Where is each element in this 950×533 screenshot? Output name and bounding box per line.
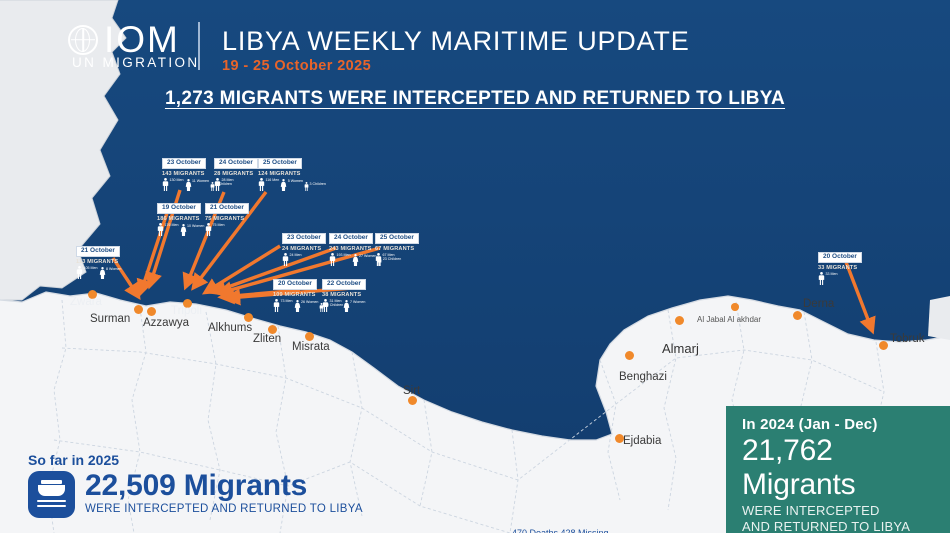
incident-label: 25 October67 MIGRANTS67 Men [375,226,419,266]
incident-breakdown: 105 Men8 Women [76,266,121,279]
person-woman-icon [185,179,192,191]
breakdown-label: 10 Women [187,224,204,228]
page-title: LIBYA WEEKLY MARITIME UPDATE [222,26,690,57]
incident-date: 20 October [273,279,317,291]
person-man-icon [205,223,212,236]
globe-icon [68,25,98,55]
headline-banner: 1,273 MIGRANTS WERE INTERCEPTED AND RETU… [0,88,950,110]
incident-label: 24 October28 MIGRANTS28 Men [214,151,258,191]
city-label: Derna [803,298,834,310]
incident-count: 38 MIGRANTS [322,292,366,298]
city-label: Zwara [70,296,102,308]
incident-date: 23 October [282,233,326,245]
incident-date: 21 October [76,246,120,258]
city-pin[interactable] [244,313,253,322]
breakdown-label: 193 Men [337,253,351,257]
person-woman-icon [352,254,359,266]
person-woman-icon [280,179,287,191]
header: IOM UN MIGRATION LIBYA WEEKLY MARITIME U… [0,0,950,120]
breakdown-label: 33 Men [826,272,838,276]
stat-2025-footer: 470 Deaths 428 Missing [512,528,609,533]
city-label: Surman [90,313,130,325]
person-woman-icon [180,224,187,236]
city-label: Alkhums [208,322,252,334]
incident-count: 33 MIGRANTS [818,265,862,271]
stat-2025: So far in 2025 22,509 Migrants WERE INTE… [28,452,363,518]
incident-label: 21 October113 MIGRANTS105 Men8 Women [76,239,121,279]
breakdown-label: 130 Men [170,178,184,182]
date-range: 19 - 25 October 2025 [222,58,371,74]
city-label: Zliten [253,333,281,345]
breakdown-item: 105 Men [76,266,98,279]
breakdown-item: 8 Women [99,267,122,279]
breakdown-label: 28 Men [222,178,234,182]
person-woman-icon [343,300,350,312]
breakdown-label: 11 Women [192,179,209,183]
person-man-icon [76,266,83,279]
breakdown-item: 3 Children [304,182,326,191]
incident-date: 19 October [157,203,201,215]
incident-date: 25 October [375,233,419,245]
landmass-egypt-edge [928,296,950,340]
breakdown-item: 130 Men [162,178,184,191]
breakdown-item: 10 Women [180,224,205,236]
incident-count: 75 MIGRANTS [205,216,249,222]
breakdown-item: 33 Men [818,272,838,285]
city-pin[interactable] [879,341,888,350]
city-pin[interactable] [793,311,802,320]
incident-breakdown: 28 Men [214,178,258,191]
iom-logo: IOM [68,22,180,57]
person-child-icon [304,182,309,191]
breakdown-item: 193 Men [329,253,351,266]
breakdown-label: 105 Men [84,266,98,270]
incident-date: 24 October [214,158,258,170]
stat-2024-number: 21,762 Migrants [742,434,936,501]
person-man-icon [273,299,280,312]
incident-label: 20 October33 MIGRANTS33 Men [818,245,862,285]
city-label: Ejdabia [623,435,661,447]
person-woman-icon [99,267,106,279]
person-man-icon [375,253,382,266]
incident-breakdown: 67 Men [375,253,419,266]
breakdown-label: 8 Women [106,267,121,271]
breakdown-label: 73 Men [281,299,293,303]
city-pin[interactable] [134,305,143,314]
incident-breakdown: 31 Men7 Women [322,299,366,312]
person-man-icon [322,299,329,312]
breakdown-label: 24 Men [290,253,302,257]
stat-2025-number: 22,509 Migrants [85,471,363,502]
header-divider [198,22,200,70]
city-pin[interactable] [625,351,634,360]
city-pin[interactable] [731,303,739,311]
city-label: Azzawya [143,317,189,329]
incident-date: 25 October [258,158,302,170]
incident-breakdown: 176 Men10 Women [157,223,204,236]
breakdown-label: 7 Women [350,300,365,304]
incident-breakdown: 116 Men5 Women3 Children [258,178,326,191]
person-man-icon [162,178,169,191]
breakdown-item: 24 Men [282,253,302,266]
breakdown-label: 176 Men [165,223,179,227]
city-label: Tobruk [890,333,925,345]
breakdown-item: 31 Men [322,299,342,312]
incident-count: 186 MIGRANTS [157,216,204,222]
incident-breakdown: 33 Men [818,272,862,285]
boat-icon [28,471,75,518]
stat-2025-kicker: So far in 2025 [28,452,363,468]
person-woman-icon [294,300,301,312]
breakdown-item: 7 Women [343,300,366,312]
incident-label: 25 October124 MIGRANTS116 Men5 Women3 Ch… [258,151,326,191]
breakdown-item: 73 Men [273,299,293,312]
breakdown-label: 31 Men [330,299,342,303]
incident-label: 19 October186 MIGRANTS176 Men10 Women [157,196,204,236]
breakdown-item: 67 Men [375,253,395,266]
city-pin[interactable] [147,307,156,316]
incident-breakdown: 75 Men [205,223,249,236]
incident-count: 124 MIGRANTS [258,171,326,177]
person-man-icon [818,272,825,285]
incident-label: 21 October75 MIGRANTS75 Men [205,196,249,236]
org-name: IOM [104,22,180,57]
city-label: Almarj [662,341,699,356]
person-man-icon [258,178,265,191]
breakdown-label: 27 Women [359,254,376,258]
incident-date: 20 October [818,252,862,264]
incident-date: 22 October [322,279,366,291]
breakdown-label: 3 Children [310,182,326,186]
incident-label: 22 October38 MIGRANTS31 Men7 Women [322,272,366,312]
breakdown-label: 5 Women [288,179,303,183]
city-label: Benghazi [619,371,667,383]
city-label: Sirt [403,385,420,397]
breakdown-item: 176 Men [157,223,179,236]
breakdown-item: 116 Men [258,178,279,191]
incident-label: 23 October24 MIGRANTS24 Men [282,226,326,266]
person-man-icon [282,253,289,266]
city-label: Tripoli [171,305,202,317]
stat-2024-kicker: In 2024 (Jan - Dec) [742,416,936,433]
incident-count: 113 MIGRANTS [76,259,121,265]
person-man-icon [329,253,336,266]
incident-count: 67 MIGRANTS [375,246,419,252]
city-label: Al Jabal Al akhdar [697,315,761,324]
person-man-icon [157,223,164,236]
breakdown-label: 75 Men [213,223,225,227]
city-pin[interactable] [675,316,684,325]
breakdown-item: 5 Women [280,179,303,191]
city-pin[interactable] [305,332,314,341]
city-label: Misrata [292,341,330,353]
stat-2024-line2: AND RETURNED TO LIBYA [742,519,936,533]
infographic-canvas: IOM UN MIGRATION LIBYA WEEKLY MARITIME U… [0,0,950,533]
breakdown-item: 11 Women [185,179,210,191]
incident-date: 23 October [162,158,206,170]
breakdown-item: 26 Women [294,300,319,312]
breakdown-label: 67 Men [383,253,395,257]
city-pin[interactable] [408,396,417,405]
stat-2024: In 2024 (Jan - Dec) 21,762 Migrants WERE… [726,406,950,533]
org-subtitle: UN MIGRATION [72,55,200,70]
incident-date: 24 October [329,233,373,245]
stat-2025-subtitle: WERE INTERCEPTED AND RETURNED TO LIBYA [85,503,363,515]
incident-date: 21 October [205,203,249,215]
incident-count: 24 MIGRANTS [282,246,326,252]
incident-count: 28 MIGRANTS [214,171,258,177]
breakdown-item: 75 Men [205,223,225,236]
breakdown-item: 28 Men [214,178,234,191]
person-man-icon [214,178,221,191]
stat-2024-line1: WERE INTERCEPTED [742,503,936,519]
incident-breakdown: 24 Men [282,253,326,266]
breakdown-label: 116 Men [266,178,280,182]
breakdown-item: 27 Women [352,254,377,266]
breakdown-label: 26 Women [301,300,318,304]
